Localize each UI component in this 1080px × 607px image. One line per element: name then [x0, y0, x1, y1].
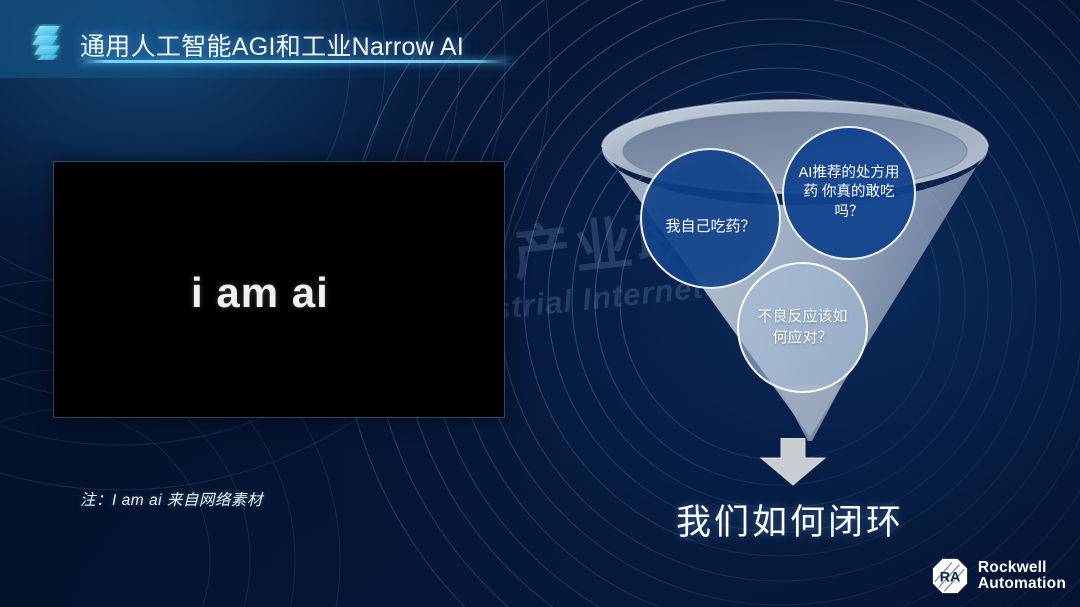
- bubble-ai-prescription[interactable]: AI推荐的处方用药 你真的敢吃吗？: [782, 126, 916, 260]
- video-screen-text: i am ai: [191, 269, 329, 317]
- logo-line-1: Rockwell: [978, 560, 1066, 576]
- funnel-conclusion-label: 我们如何闭环: [0, 494, 1080, 545]
- video-panel[interactable]: i am ai: [54, 162, 504, 417]
- bubble-3-label: 不良反应该如何应对？: [739, 307, 866, 348]
- page-title: 通用人工智能AGI和工业Narrow AI: [80, 27, 464, 63]
- svg-text:RA: RA: [940, 570, 961, 586]
- rockwell-automation-logo: RA Rockwell Automation: [931, 557, 1066, 595]
- bubble-self-medication[interactable]: 我自己吃药？: [640, 148, 781, 289]
- presentation-slide: 通用人工智能AGI和工业Narrow AI 工业互联网产业联盟 Alliance…: [0, 0, 1080, 607]
- logo-line-2: Automation: [978, 576, 1066, 592]
- slide-header: 通用人工智能AGI和工业Narrow AI: [0, 0, 1080, 78]
- stacked-layers-icon: [30, 24, 64, 60]
- logo-wordmark: Rockwell Automation: [978, 560, 1066, 593]
- rockwell-ra-octagon-icon: RA: [931, 557, 969, 595]
- title-underline: [80, 60, 512, 63]
- bubble-1-label: 我自己吃药？: [653, 217, 767, 237]
- bubble-2-label: AI推荐的处方用药 你真的敢吃吗？: [784, 164, 914, 223]
- bubble-adverse-reaction[interactable]: 不良反应该如何应对？: [737, 262, 868, 393]
- down-arrow-icon: [757, 438, 829, 486]
